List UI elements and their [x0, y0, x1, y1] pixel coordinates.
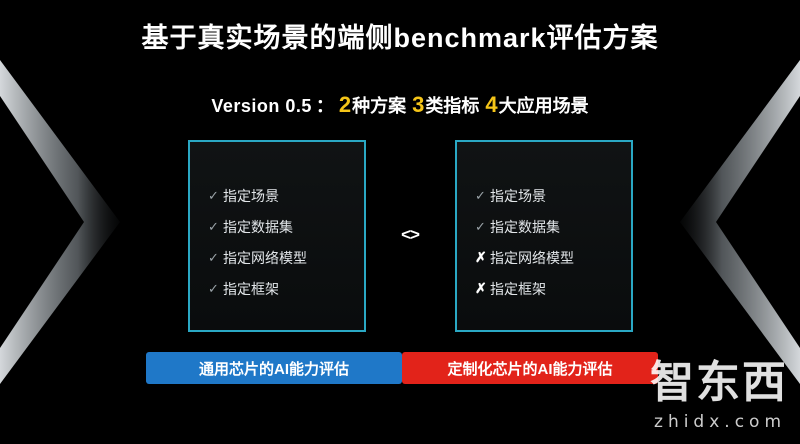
watermark-brand: 智东西 — [650, 346, 788, 410]
page-title: 基于真实场景的端侧benchmark评估方案 — [0, 16, 800, 55]
check-icon: ✓ — [475, 219, 490, 235]
chevron-right-decoration — [680, 0, 800, 444]
list-item-label: 指定数据集 — [490, 217, 560, 237]
list-item-label: 指定网络模型 — [223, 248, 307, 268]
check-icon: ✓ — [208, 281, 223, 297]
list-item-label: 指定场景 — [490, 186, 546, 206]
check-icon: ✓ — [208, 250, 223, 266]
list-item-label: 指定框架 — [223, 279, 279, 299]
count-schemes: 2 — [338, 92, 352, 117]
list-item-label: 指定数据集 — [223, 217, 293, 237]
custom-chip-panel: ✓ 指定场景 ✓ 指定数据集 ✗ 指定网络模型 ✗ 指定框架 — [455, 140, 633, 332]
label-scenarios: 大应用场景 — [499, 96, 589, 116]
general-chip-banner: 通用芯片的AI能力评估 — [146, 352, 402, 384]
compare-arrows-icon: <> — [390, 225, 430, 245]
list-item: ✗ 指定框架 — [475, 273, 623, 304]
subtitle-colon: ： — [312, 96, 338, 116]
watermark-url: zhidx.com — [654, 412, 786, 432]
label-metrics: 类指标 — [425, 96, 479, 116]
list-item-label: 指定网络模型 — [490, 248, 574, 268]
custom-chip-banner: 定制化芯片的AI能力评估 — [402, 352, 658, 384]
list-item-label: 指定框架 — [490, 279, 546, 299]
custom-chip-item-list: ✓ 指定场景 ✓ 指定数据集 ✗ 指定网络模型 ✗ 指定框架 — [475, 180, 623, 304]
slide-root: 基于真实场景的端侧benchmark评估方案 Version 0.5：2种方案 … — [0, 0, 800, 444]
list-item: ✓ 指定网络模型 — [208, 242, 356, 273]
list-item: ✓ 指定数据集 — [208, 211, 356, 242]
check-icon: ✓ — [475, 188, 490, 204]
list-item: ✓ 指定场景 — [475, 180, 623, 211]
general-chip-item-list: ✓ 指定场景 ✓ 指定数据集 ✓ 指定网络模型 ✓ 指定框架 — [208, 180, 356, 304]
list-item: ✗ 指定网络模型 — [475, 242, 623, 273]
count-scenarios: 4 — [484, 92, 498, 117]
count-metrics: 3 — [411, 92, 425, 117]
list-item: ✓ 指定数据集 — [475, 211, 623, 242]
list-item-label: 指定场景 — [223, 186, 279, 206]
label-schemes: 种方案 — [352, 96, 406, 116]
subtitle-line: Version 0.5：2种方案 3类指标 4大应用场景 — [0, 92, 800, 118]
chevron-left-decoration — [0, 0, 120, 444]
list-item: ✓ 指定框架 — [208, 273, 356, 304]
cross-icon: ✗ — [475, 249, 490, 266]
cross-icon: ✗ — [475, 280, 490, 297]
general-chip-panel: ✓ 指定场景 ✓ 指定数据集 ✓ 指定网络模型 ✓ 指定框架 — [188, 140, 366, 332]
list-item: ✓ 指定场景 — [208, 180, 356, 211]
check-icon: ✓ — [208, 188, 223, 204]
version-label: Version 0.5 — [211, 96, 312, 116]
check-icon: ✓ — [208, 219, 223, 235]
